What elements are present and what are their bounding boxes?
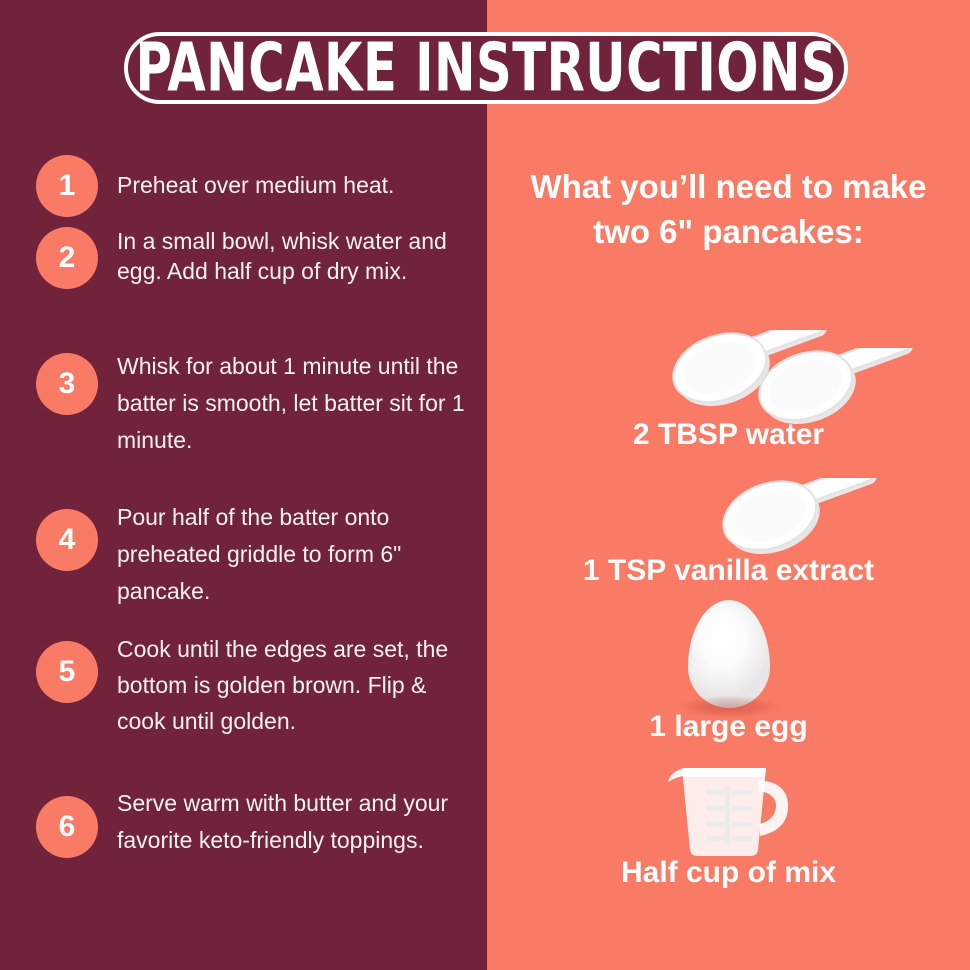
step-number-badge: 2 — [36, 227, 98, 289]
step-number-badge: 4 — [36, 509, 98, 571]
egg-icon — [487, 600, 970, 708]
step-text: Serve warm with butter and your favorite… — [117, 785, 465, 859]
step-text: Cook until the edges are set, the bottom… — [117, 631, 465, 739]
step-text: Pour half of the batter onto preheated g… — [117, 499, 465, 610]
pancake-instructions-infographic: PANCAKE INSTRUCTIONS 1 Preheat over medi… — [0, 0, 970, 970]
step-number-badge: 1 — [36, 155, 98, 217]
step-text: Preheat over medium heat. — [117, 169, 465, 202]
ingredient-label: 1 TSP vanilla extract — [487, 554, 970, 588]
ingredient-label: 2 TBSP water — [487, 418, 970, 452]
instruction-step-list: 1 Preheat over medium heat. 2 In a small… — [0, 0, 487, 970]
ingredients-heading: What you’ll need to make two 6" pancakes… — [527, 164, 930, 254]
ingredient-label: Half cup of mix — [487, 856, 970, 890]
step-number-badge: 3 — [36, 353, 98, 415]
step-number-badge: 6 — [36, 796, 98, 858]
step-text: Whisk for about 1 minute until the batte… — [117, 348, 465, 459]
step-number-badge: 5 — [36, 641, 98, 703]
measuring-cup-icon — [487, 752, 970, 860]
ingredient-label: 1 large egg — [487, 710, 970, 744]
step-text: In a small bowl, whisk water and egg. Ad… — [117, 226, 465, 286]
